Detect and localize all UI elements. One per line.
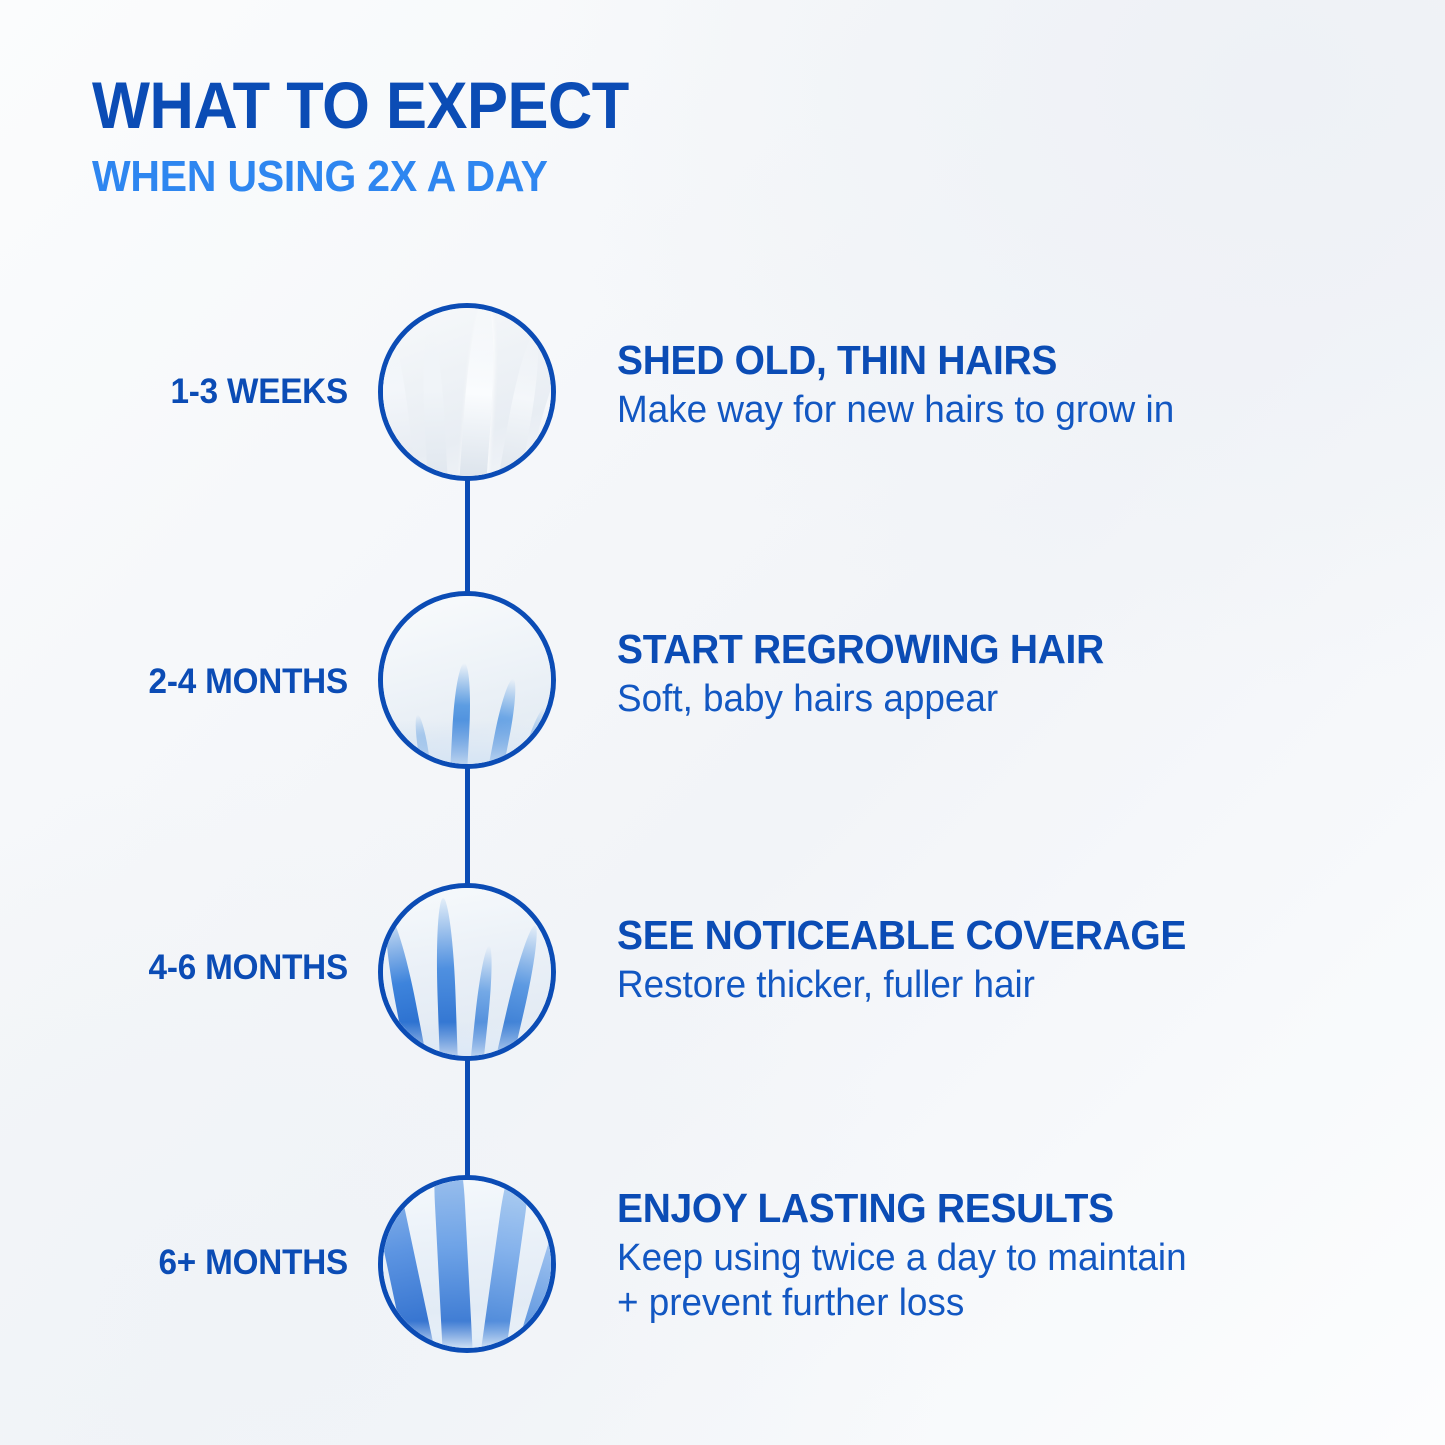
timeline-image-2 <box>378 591 556 769</box>
timeline-body-4-line1: Keep using twice a day to maintain <box>617 1237 1354 1280</box>
timeline-copy-1: SHED OLD, THIN HAIRS Make way for new ha… <box>617 340 1377 432</box>
timeline: 1-3 WEEKS SHED OLD, THIN HAIRS Make way … <box>0 0 1445 1445</box>
timeline-image-1 <box>378 303 556 481</box>
timeline-image-3 <box>378 883 556 1061</box>
timeline-copy-4: ENJOY LASTING RESULTS Keep using twice a… <box>617 1188 1377 1325</box>
hair-microscopy-image-4 <box>383 1180 551 1348</box>
timeline-body-2: Soft, baby hairs appear <box>617 678 1354 721</box>
timeline-body-1: Make way for new hairs to grow in <box>617 389 1354 432</box>
hair-microscopy-image-2 <box>383 596 551 764</box>
timeline-body-4-line2: + prevent further loss <box>617 1282 1354 1325</box>
timeline-connector-1-2 <box>465 476 470 594</box>
timeline-time-label-2: 2-4 MONTHS <box>17 662 348 702</box>
timeline-time-label-4: 6+ MONTHS <box>17 1243 348 1283</box>
timeline-connector-3-4 <box>465 1056 470 1176</box>
timeline-copy-3: SEE NOTICEABLE COVERAGE Restore thicker,… <box>617 915 1377 1007</box>
timeline-heading-1: SHED OLD, THIN HAIRS <box>617 340 1339 382</box>
timeline-heading-4: ENJOY LASTING RESULTS <box>617 1188 1339 1230</box>
timeline-copy-2: START REGROWING HAIR Soft, baby hairs ap… <box>617 629 1377 721</box>
timeline-connector-2-3 <box>465 764 470 884</box>
timeline-body-3: Restore thicker, fuller hair <box>617 964 1354 1007</box>
timeline-heading-3: SEE NOTICEABLE COVERAGE <box>617 915 1339 957</box>
infographic-page: WHAT TO EXPECT WHEN USING 2X A DAY 1-3 W… <box>0 0 1445 1445</box>
timeline-heading-2: START REGROWING HAIR <box>617 629 1339 671</box>
hair-microscopy-image-1 <box>383 308 551 476</box>
hair-microscopy-image-3 <box>383 888 551 1056</box>
timeline-time-label-3: 4-6 MONTHS <box>17 948 348 988</box>
timeline-image-4 <box>378 1175 556 1353</box>
timeline-time-label-1: 1-3 WEEKS <box>17 372 348 412</box>
